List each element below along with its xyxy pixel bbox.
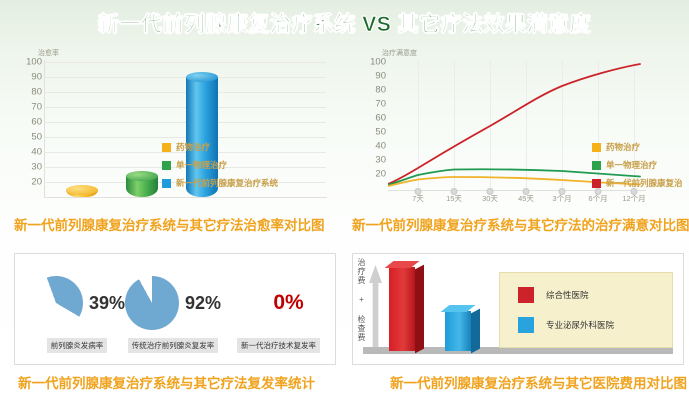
legend-item: 新一代前列腺康复治疗系统 [162,177,278,189]
chart3-caption: 新一代前列腺康复治疗系统与其它疗法复发率统计 [18,372,315,392]
gridline [44,92,326,93]
gridline [44,62,326,63]
pie-row: 92% [125,276,221,330]
pie-label-traditional-recurrence: 传统治疗前列腺炎复发率 [128,338,219,353]
legend-swatch-green-icon [162,161,171,170]
bar-side [415,265,424,354]
legend-item: 药物治疗 [592,141,682,153]
pie-value-incidence: 39% [89,293,125,314]
gridline [44,77,326,78]
satisfaction-line-chart: 治疗满意度 100 90 80 70 60 50 40 30 20 [352,48,682,211]
bar-urology-hospital [445,311,471,351]
chart2-legend: 药物治疗 单一物理治疗 新一代前列腺康复治疗系统 [592,141,682,195]
bar-cap [126,171,158,181]
legend-label: 药物治疗 [606,141,640,153]
pie-row: 39% [29,276,125,330]
legend-item: 综合性医院 [518,287,672,303]
bar-general-hospital [389,267,415,351]
chart4-y-axis-label: 治疗费 + 检查费 [355,258,368,342]
bar-cap [186,72,218,82]
chart4-caption: 新一代前列腺康复治疗系统与其它医院费用对比图 [390,372,687,392]
x-tick-label: 15天 [446,193,462,204]
recurrence-pie-chart: 39% 前列腺炎发病率 92% 传统治疗前列腺炎复发率 0% 新一代治疗技术复发… [14,253,336,365]
legend-label: 新一代前列腺康复治疗系统 [606,177,682,189]
pie-group-incidence: 39% 前列腺炎发病率 [29,276,125,353]
bar-single-physical-therapy [126,171,158,197]
pie-label-new-recurrence: 新一代治疗技术复发率 [237,338,320,353]
legend-item: 药物治疗 [162,141,278,153]
pie-group-traditional-recurrence: 92% 传统治疗前列腺炎复发率 [125,276,221,353]
x-tick-label: 30天 [482,193,498,204]
legend-label: 新一代前列腺康复治疗系统 [176,177,278,189]
legend-swatch-red-icon [518,287,534,303]
page-title: 新一代前列腺康复治疗系统 VS 其它疗法效果满意度 [98,8,591,38]
legend-label: 专业泌尿外科医院 [546,319,614,331]
page-title-bar: 新一代前列腺康复治疗系统 VS 其它疗法效果满意度 [0,6,689,40]
infographic-page: 新一代前列腺康复治疗系统 VS 其它疗法效果满意度 治愈率 100 90 80 … [0,0,689,403]
x-tick-label: 7天 [412,193,424,204]
pie-value-new-recurrence: 0% [273,291,303,315]
pie-chart-incidence [21,268,90,337]
bar-front [389,267,415,351]
legend-swatch-orange-icon [162,143,171,152]
chart2-y-ticks: 100 90 80 70 60 50 40 30 20 [352,60,386,191]
legend-swatch-red-icon [592,179,601,188]
up-arrow-icon [369,265,382,347]
bar-cap [66,185,98,195]
chart1-caption: 新一代前列腺康复治疗系统与其它疗法治愈率对比图 [14,214,325,234]
legend-label: 单一物理治疗 [606,159,657,171]
bar-drug-therapy [66,185,98,197]
gridline [44,107,326,108]
pie-group-new-recurrence: 0% 新一代治疗技术复发率 [237,276,320,353]
pie-row: 0% [253,276,303,330]
cost-comparison-bar-chart: 治疗费 + 检查费 综合性医院 专业泌尿外科医院 [352,253,684,365]
legend-item: 新一代前列腺康复治疗系统 [592,177,682,189]
chart4-legend: 综合性医院 专业泌尿外科医院 [499,272,673,348]
legend-label: 药物治疗 [176,141,210,153]
cure-rate-bar-chart: 治愈率 100 90 80 70 60 50 40 30 20 [14,48,334,211]
legend-swatch-blue-icon [162,179,171,188]
pie-value-traditional-recurrence: 92% [185,293,221,314]
legend-item: 专业泌尿外科医院 [518,317,672,333]
bar-side [471,309,480,354]
x-tick-label: 3个月 [552,193,571,204]
pie-label-incidence: 前列腺炎发病率 [47,338,108,353]
chart1-y-ticks: 100 90 80 70 60 50 40 30 20 [14,60,42,197]
bar-front [445,311,471,351]
legend-swatch-blue-icon [518,317,534,333]
gridline [44,137,326,138]
legend-label: 综合性医院 [546,289,589,301]
x-tick-label: 45天 [518,193,534,204]
pie-chart-traditional-recurrence [125,276,179,330]
gridline [44,122,326,123]
chart1-legend: 药物治疗 单一物理治疗 新一代前列腺康复治疗系统 [162,141,278,195]
legend-swatch-green-icon [592,161,601,170]
legend-item: 单一物理治疗 [592,159,682,171]
legend-label: 单一物理治疗 [176,159,227,171]
legend-item: 单一物理治疗 [162,159,278,171]
chart2-caption: 新一代前列腺康复治疗系统与其它疗法的治疗满意对比图 [352,214,689,234]
chart2-y-axis-label: 治疗满意度 [382,48,417,58]
legend-swatch-orange-icon [592,143,601,152]
